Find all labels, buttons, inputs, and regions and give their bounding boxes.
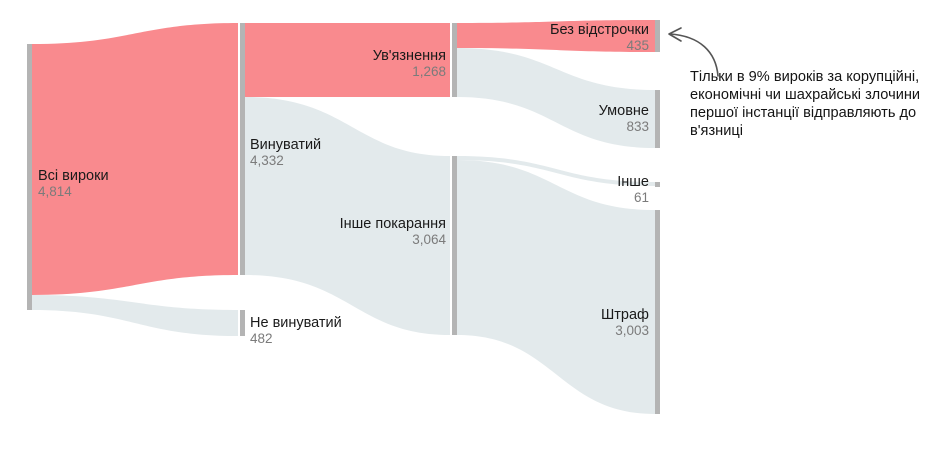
- link-all-to-notguilty: [32, 295, 238, 336]
- node-bar-conditional[interactable]: [655, 90, 660, 148]
- link-all-to-guilty: [32, 23, 238, 295]
- node-bar-prison[interactable]: [452, 23, 457, 97]
- link-otherpun-to-fine: [457, 160, 655, 414]
- node-bar-noparole[interactable]: [655, 20, 660, 52]
- link-guilty-to-otherpun: [245, 97, 450, 335]
- node-bar-guilty[interactable]: [240, 23, 245, 275]
- node-bar-all[interactable]: [27, 44, 32, 310]
- annotation-text: Тільки в 9% вироків за корупційні, еконо…: [690, 68, 938, 140]
- node-bar-otherpun[interactable]: [452, 156, 457, 335]
- node-bar-fine[interactable]: [655, 210, 660, 414]
- link-guilty-to-prison: [245, 23, 450, 97]
- node-bar-other[interactable]: [655, 182, 660, 187]
- sankey-chart: Всі вироки 4,814 Ув'язнення 1,268 Винува…: [0, 0, 940, 468]
- link-prison-to-conditional: [457, 48, 655, 148]
- link-prison-to-noparole: [457, 20, 655, 52]
- node-bar-notguilty[interactable]: [240, 310, 245, 336]
